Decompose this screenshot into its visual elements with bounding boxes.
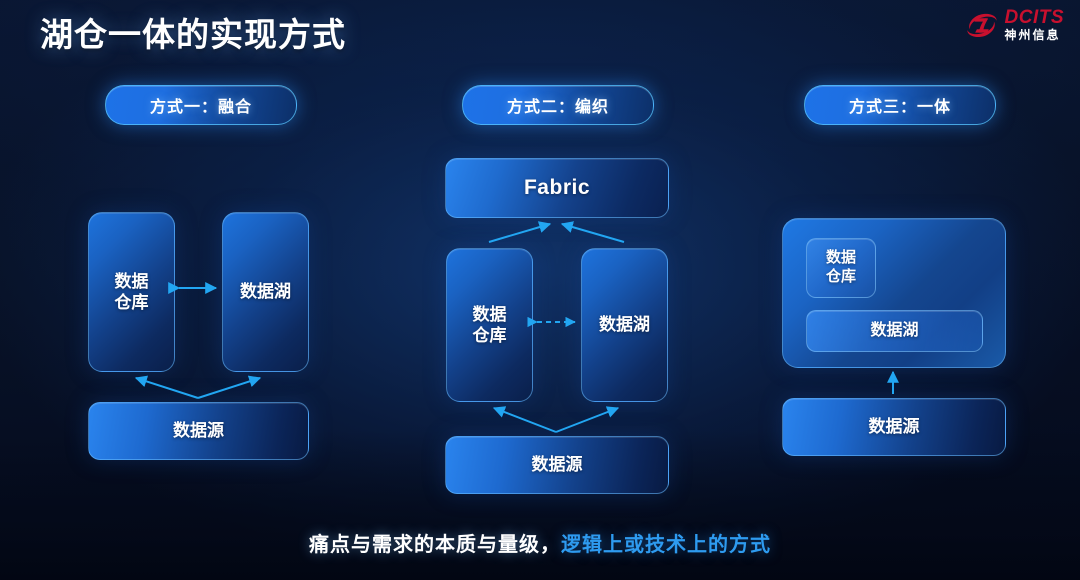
approach-1-source-label: 数据源 — [173, 420, 224, 441]
approach-2-fabric-box[interactable]: Fabric — [445, 158, 669, 218]
warehouse-line1: 数据 — [115, 272, 149, 291]
brand-logo: DCITS 神州信息 — [965, 8, 1065, 41]
approach-2-source-label: 数据源 — [532, 454, 583, 475]
approach-2-warehouse-label: 数据 仓库 — [473, 304, 507, 347]
footer-caption: 痛点与需求的本质与量级，逻辑上或技术上的方式 — [0, 528, 1080, 557]
approach-3-lake-label: 数据湖 — [870, 321, 918, 341]
warehouse-line2: 仓库 — [826, 268, 856, 285]
approach-3-warehouse-box[interactable]: 数据 仓库 — [806, 238, 876, 298]
approach-3-source-label: 数据源 — [869, 416, 920, 437]
approach-3-source-box[interactable]: 数据源 — [782, 398, 1006, 456]
approach-1-lake-label: 数据湖 — [240, 281, 291, 302]
approach-1-source-box[interactable]: 数据源 — [88, 402, 309, 460]
approach-1-warehouse-box[interactable]: 数据 仓库 — [88, 212, 175, 372]
arrow-c2-source-warehouse — [494, 408, 556, 432]
approach-2-pill[interactable]: 方式二：编织 — [462, 85, 654, 125]
approach-3-warehouse-label: 数据 仓库 — [826, 249, 856, 287]
caption-part-a: 痛点与需求的本质与量级， — [309, 534, 561, 556]
dcits-swirl-icon — [965, 10, 999, 40]
arrow-c2-lake-fabric — [562, 224, 624, 242]
approach-2-fabric-label: Fabric — [524, 175, 590, 201]
approach-1-warehouse-label: 数据 仓库 — [115, 271, 149, 314]
arrow-c2-source-lake — [556, 408, 618, 432]
warehouse-line1: 数据 — [473, 305, 507, 324]
arrow-c1-source-lake — [198, 378, 260, 398]
page-title: 湖仓一体的实现方式 — [40, 8, 346, 56]
approach-2-lake-box[interactable]: 数据湖 — [581, 248, 668, 402]
approach-1-pill[interactable]: 方式一：融合 — [105, 85, 297, 125]
approach-1-lake-box[interactable]: 数据湖 — [222, 212, 309, 372]
arrow-c1-source-warehouse — [136, 378, 198, 398]
brand-name: DCITS — [1005, 8, 1065, 27]
warehouse-line2: 仓库 — [473, 326, 507, 345]
approach-2-source-box[interactable]: 数据源 — [445, 436, 669, 494]
approach-3-lake-box[interactable]: 数据湖 — [806, 310, 983, 352]
slide-canvas: 湖仓一体的实现方式 DCITS 神州信息 方式一：融合 方式二：编织 方式三：一… — [0, 0, 1080, 580]
approach-2-warehouse-box[interactable]: 数据 仓库 — [446, 248, 533, 402]
approach-2-lake-label: 数据湖 — [599, 314, 650, 335]
warehouse-line1: 数据 — [826, 249, 856, 266]
arrow-c2-warehouse-fabric — [489, 224, 550, 242]
brand-name-cn: 神州信息 — [1005, 29, 1065, 41]
approach-3-pill[interactable]: 方式三：一体 — [804, 85, 996, 125]
caption-part-b: 逻辑上或技术上的方式 — [561, 534, 771, 556]
warehouse-line2: 仓库 — [115, 293, 149, 312]
